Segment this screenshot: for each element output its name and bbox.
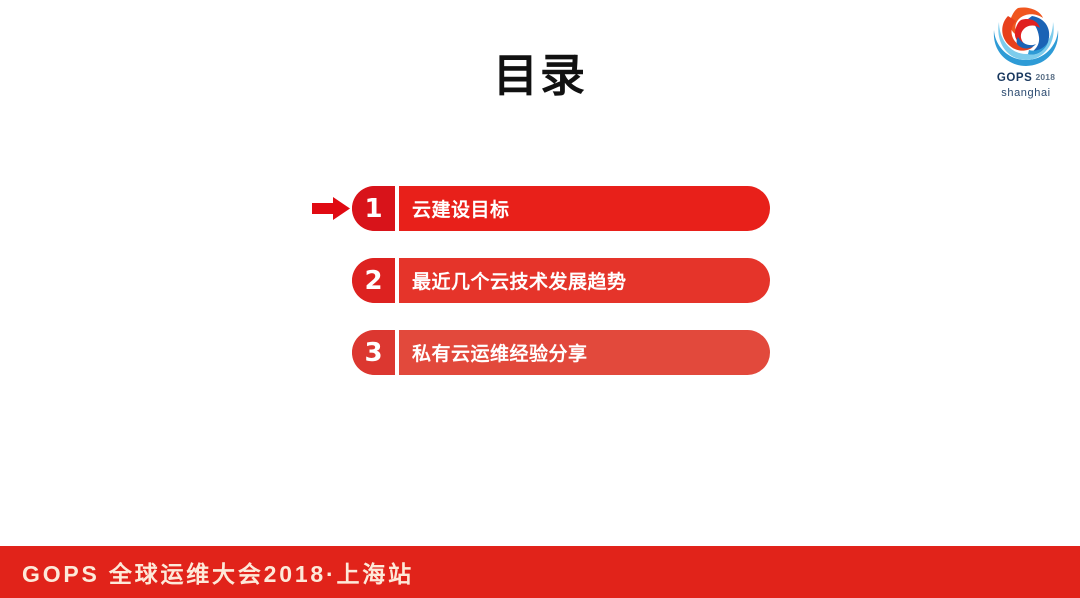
- footer-bar: GOPS 全球运维大会2018·上海站: [0, 546, 1080, 598]
- agenda-label-3: 私有云运维经验分享: [399, 339, 770, 366]
- agenda-badge-3: 3: [352, 330, 395, 375]
- agenda-number-2: 2: [364, 268, 382, 294]
- arrow-right-icon: [312, 197, 350, 220]
- agenda-badge-2: 2: [352, 258, 395, 303]
- page-title: 目录: [0, 50, 1080, 102]
- agenda-row: 1 云建设目标: [0, 186, 1080, 231]
- agenda-item-1[interactable]: 1 云建设目标: [352, 186, 770, 231]
- agenda-item-2[interactable]: 2 最近几个云技术发展趋势: [352, 258, 770, 303]
- agenda-badge-1: 1: [352, 186, 395, 231]
- agenda-row: 2 最近几个云技术发展趋势: [0, 258, 1080, 303]
- agenda-label-1: 云建设目标: [399, 195, 770, 222]
- agenda-label-2: 最近几个云技术发展趋势: [399, 267, 770, 294]
- agenda-list: 1 云建设目标 2 最近几个云技术发展趋势 3: [0, 186, 1080, 402]
- agenda-number-3: 3: [364, 340, 382, 366]
- agenda-row: 3 私有云运维经验分享: [0, 330, 1080, 375]
- footer-text: GOPS 全球运维大会2018·上海站: [0, 555, 414, 589]
- agenda-number-1: 1: [364, 196, 382, 222]
- slide-canvas: GOPS2018 shanghai 目录 1 云建设目标: [0, 0, 1080, 598]
- agenda-item-3[interactable]: 3 私有云运维经验分享: [352, 330, 770, 375]
